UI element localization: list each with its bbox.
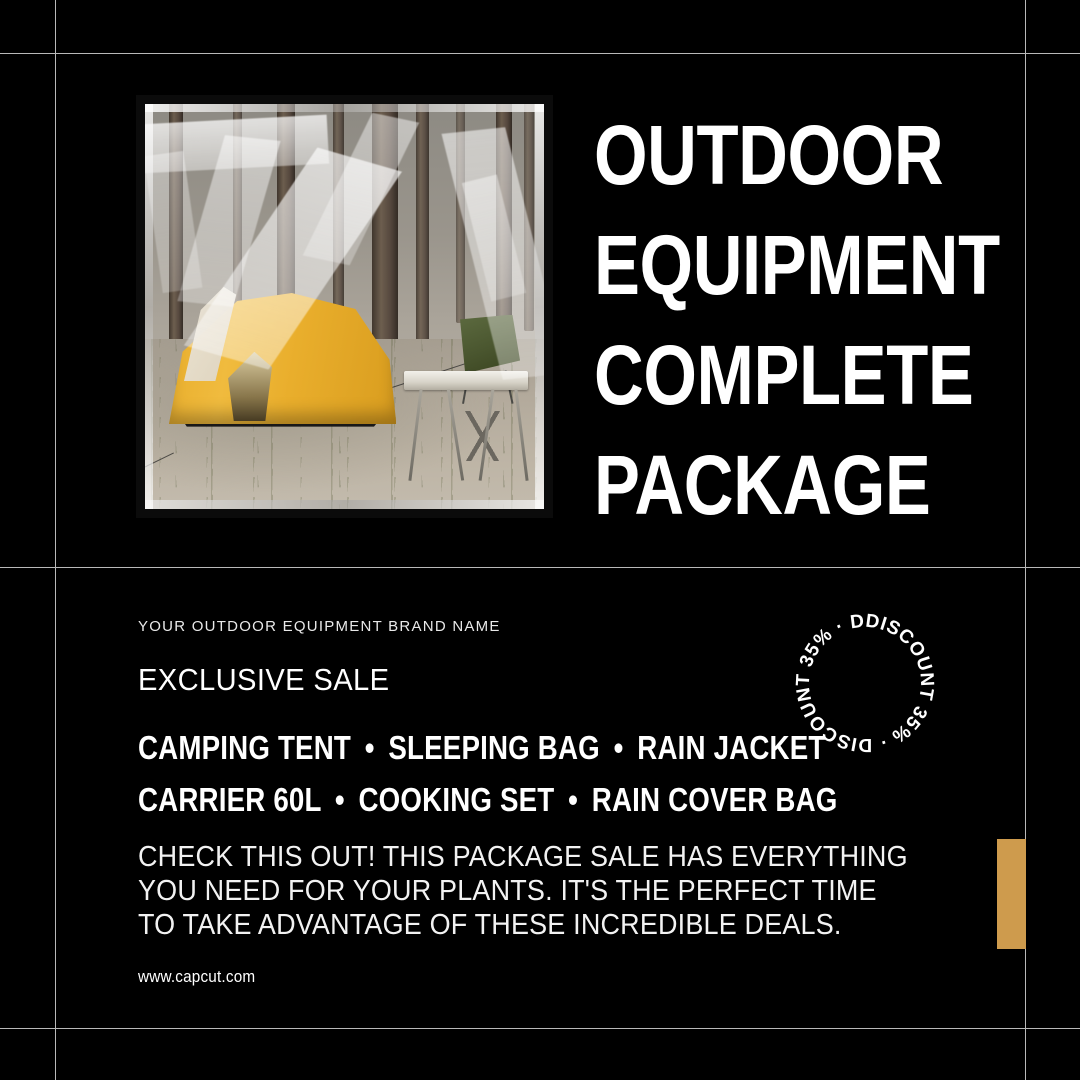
product-item: CAMPING TENT bbox=[138, 729, 351, 766]
guide-line-horizontal-bottom bbox=[0, 1028, 1080, 1029]
guide-line-vertical-left bbox=[55, 0, 56, 1080]
product-item: COOKING SET bbox=[359, 781, 555, 818]
headline-line-4: PACKAGE bbox=[594, 430, 938, 540]
page-title: OUTDOOR EQUIPMENT COMPLETE PACKAGE bbox=[594, 100, 938, 540]
product-list-line-1: CAMPING TENT • SLEEPING BAG • RAIN JACKE… bbox=[138, 722, 659, 774]
product-item: RAIN COVER BAG bbox=[592, 781, 838, 818]
discount-ring-text: DISCOUNT 35% · DISCOUNT 35% · DISCOUNT 3… bbox=[786, 597, 937, 755]
website-url[interactable]: www.capcut.com bbox=[138, 967, 255, 987]
status-badge: DISCOUNT 35% · DISCOUNT 35% · DISCOUNT 3… bbox=[795, 613, 935, 753]
headline-line-3: COMPLETE bbox=[594, 320, 938, 430]
bullet-separator-icon: • bbox=[562, 774, 584, 826]
package-frame bbox=[136, 95, 553, 518]
accent-bar bbox=[997, 839, 1026, 949]
product-list-line-2: CARRIER 60L • COOKING SET • RAIN COVER B… bbox=[138, 774, 659, 826]
bullet-separator-icon: • bbox=[608, 722, 630, 774]
brand-name: YOUR OUTDOOR EQUIPMENT BRAND NAME bbox=[138, 618, 501, 635]
body-copy: CHECK THIS OUT! THIS PACKAGE SALE HAS EV… bbox=[138, 840, 910, 942]
bullet-separator-icon: • bbox=[359, 722, 381, 774]
product-list: CAMPING TENT • SLEEPING BAG • RAIN JACKE… bbox=[138, 722, 659, 826]
guide-line-horizontal-top bbox=[0, 53, 1080, 54]
headline-line-1: OUTDOOR bbox=[594, 100, 938, 210]
product-item: CARRIER 60L bbox=[138, 781, 321, 818]
poster-canvas: OUTDOOR EQUIPMENT COMPLETE PACKAGE YOUR … bbox=[0, 0, 1080, 1080]
product-image bbox=[136, 95, 553, 518]
discount-ring-icon: DISCOUNT 35% · DISCOUNT 35% · DISCOUNT 3… bbox=[795, 613, 935, 753]
product-item: SLEEPING BAG bbox=[388, 729, 599, 766]
discount-ring-textpath: DISCOUNT 35% · DISCOUNT 35% · DISCOUNT 3… bbox=[786, 597, 937, 755]
offer-headline: EXCLUSIVE SALE bbox=[138, 662, 389, 698]
bullet-separator-icon: • bbox=[329, 774, 351, 826]
headline-line-2: EQUIPMENT bbox=[594, 210, 938, 320]
guide-line-horizontal-middle bbox=[0, 567, 1080, 568]
